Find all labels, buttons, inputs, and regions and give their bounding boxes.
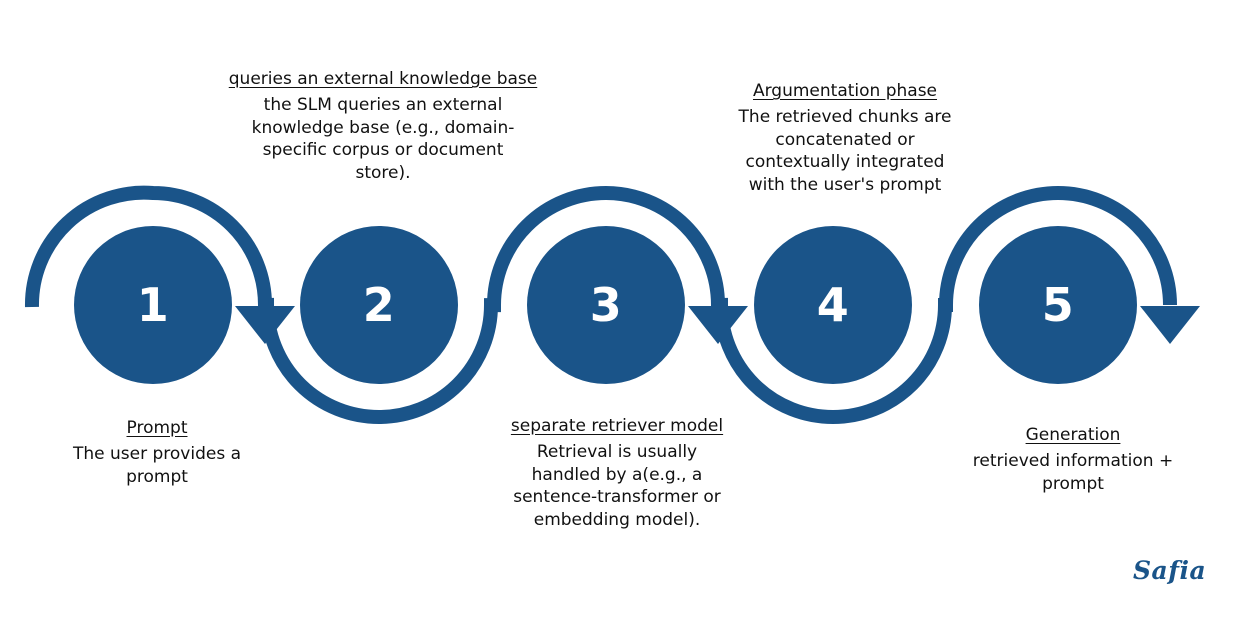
step-number-2: 2	[339, 282, 419, 328]
step-caption-5: Generationretrieved information +prompt	[943, 424, 1203, 495]
step-caption-body-4: The retrieved chunks areconcatenated orc…	[720, 106, 970, 196]
step-caption-body-1: The user provides aprompt	[42, 443, 272, 488]
step-caption-2: queries an external knowledge basethe SL…	[228, 68, 538, 184]
step-caption-4: Argumentation phase The retrieved chunks…	[720, 80, 970, 196]
step-caption-title-3: separate retriever model	[492, 415, 742, 437]
flow-arrowhead-1	[235, 306, 295, 344]
step-caption-1: PromptThe user provides aprompt	[42, 417, 272, 488]
step-number-3: 3	[566, 282, 646, 328]
author-signature: Safia	[1133, 556, 1206, 585]
step-caption-title-1: Prompt	[42, 417, 272, 439]
flow-arrowhead-3	[688, 306, 748, 344]
step-caption-3: separate retriever model Retrieval is us…	[492, 415, 742, 531]
step-caption-body-3: Retrieval is usuallyhandled by a(e.g., a…	[492, 441, 742, 531]
step-caption-body-2: the SLM queries an externalknowledge bas…	[228, 94, 538, 184]
step-number-5: 5	[1018, 282, 1098, 328]
step-number-4: 4	[793, 282, 873, 328]
step-number-1: 1	[113, 282, 193, 328]
diagram-canvas: 12345 PromptThe user provides apromptque…	[0, 0, 1242, 620]
step-caption-title-2: queries an external knowledge base	[228, 68, 538, 90]
step-caption-title-5: Generation	[943, 424, 1203, 446]
flow-arrowhead-5	[1140, 306, 1200, 344]
step-caption-title-4: Argumentation phase	[720, 80, 970, 102]
step-caption-body-5: retrieved information +prompt	[943, 450, 1203, 495]
